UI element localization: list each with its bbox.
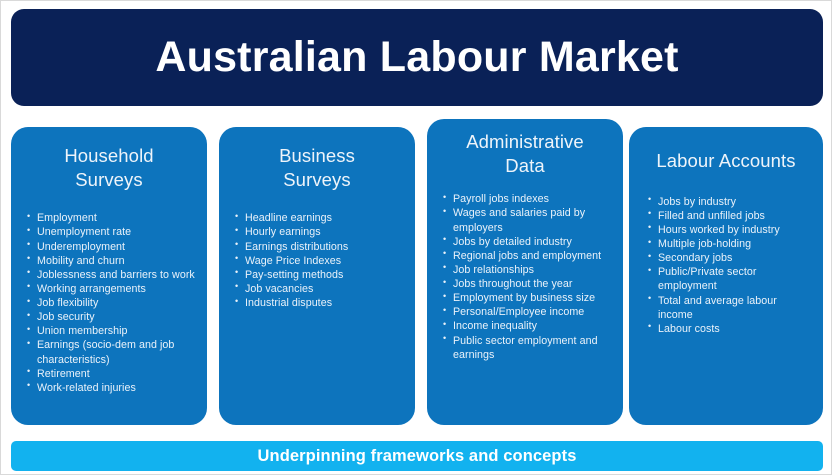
diagram-canvas: Australian Labour Market Household Surve… xyxy=(0,0,832,475)
card-title-line-1: Administrative xyxy=(466,131,584,152)
list-item: Job security xyxy=(27,310,195,324)
card-title-line-2: Surveys xyxy=(75,169,143,190)
list-item: Employment xyxy=(27,211,195,225)
list-item: Secondary jobs xyxy=(648,251,813,265)
list-item: Public/Private sector employment xyxy=(648,265,813,293)
list-item: Union membership xyxy=(27,324,195,338)
bullet-list-household-surveys: Employment Unemployment rate Underemploy… xyxy=(27,211,195,395)
list-item: Hours worked by industry xyxy=(648,223,813,237)
list-item: Regional jobs and employment xyxy=(443,249,613,263)
list-item: Headline earnings xyxy=(235,211,403,225)
card-title-household-surveys: Household Surveys xyxy=(25,144,193,191)
list-item: Payroll jobs indexes xyxy=(443,192,613,206)
list-item: Employment by business size xyxy=(443,291,613,305)
list-item: Job flexibility xyxy=(27,296,195,310)
list-item: Wage Price Indexes xyxy=(235,254,403,268)
list-item: Wages and salaries paid by employers xyxy=(443,206,613,234)
bullet-list-administrative-data: Payroll jobs indexes Wages and salaries … xyxy=(443,192,613,362)
list-item: Job relationships xyxy=(443,263,613,277)
list-item: Mobility and churn xyxy=(27,254,195,268)
list-item: Filled and unfilled jobs xyxy=(648,209,813,223)
list-item: Personal/Employee income xyxy=(443,305,613,319)
list-item: Retirement xyxy=(27,367,195,381)
list-item: Earnings (socio-dem and job characterist… xyxy=(27,338,195,366)
card-title-business-surveys: Business Surveys xyxy=(233,144,401,191)
list-item: Unemployment rate xyxy=(27,225,195,239)
card-title-line-2: Data xyxy=(505,155,544,176)
card-household-surveys: Household Surveys Employment Unemploymen… xyxy=(11,127,207,425)
card-title-line-2: Surveys xyxy=(283,169,351,190)
list-item: Industrial disputes xyxy=(235,296,403,310)
card-title-line-1: Business xyxy=(279,145,355,166)
bullet-list-business-surveys: Headline earnings Hourly earnings Earnin… xyxy=(235,211,403,310)
list-item: Hourly earnings xyxy=(235,225,403,239)
list-item: Jobs by industry xyxy=(648,195,813,209)
card-title-administrative-data: Administrative Data xyxy=(441,130,609,177)
list-item: Working arrangements xyxy=(27,282,195,296)
list-item: Income inequality xyxy=(443,319,613,333)
list-item: Multiple job-holding xyxy=(648,237,813,251)
footer-banner: Underpinning frameworks and concepts xyxy=(11,441,823,471)
list-item: Joblessness and barriers to work xyxy=(27,268,195,282)
list-item: Total and average labour income xyxy=(648,294,813,322)
list-item: Pay-setting methods xyxy=(235,268,403,282)
list-item: Public sector employment and earnings xyxy=(443,334,613,362)
list-item: Earnings distributions xyxy=(235,240,403,254)
list-item: Jobs throughout the year xyxy=(443,277,613,291)
list-item: Job vacancies xyxy=(235,282,403,296)
columns-row: Household Surveys Employment Unemploymen… xyxy=(1,1,832,476)
card-title-line-1: Household xyxy=(64,145,153,166)
bullet-list-labour-accounts: Jobs by industry Filled and unfilled job… xyxy=(648,195,813,336)
card-labour-accounts: Labour Accounts Jobs by industry Filled … xyxy=(629,127,823,425)
card-business-surveys: Business Surveys Headline earnings Hourl… xyxy=(219,127,415,425)
list-item: Underemployment xyxy=(27,240,195,254)
card-title-line-1: Labour Accounts xyxy=(656,150,795,171)
card-title-labour-accounts: Labour Accounts xyxy=(639,149,813,173)
list-item: Labour costs xyxy=(648,322,813,336)
list-item: Jobs by detailed industry xyxy=(443,235,613,249)
list-item: Work-related injuries xyxy=(27,381,195,395)
card-administrative-data: Administrative Data Payroll jobs indexes… xyxy=(427,119,623,425)
footer-label: Underpinning frameworks and concepts xyxy=(258,447,577,466)
